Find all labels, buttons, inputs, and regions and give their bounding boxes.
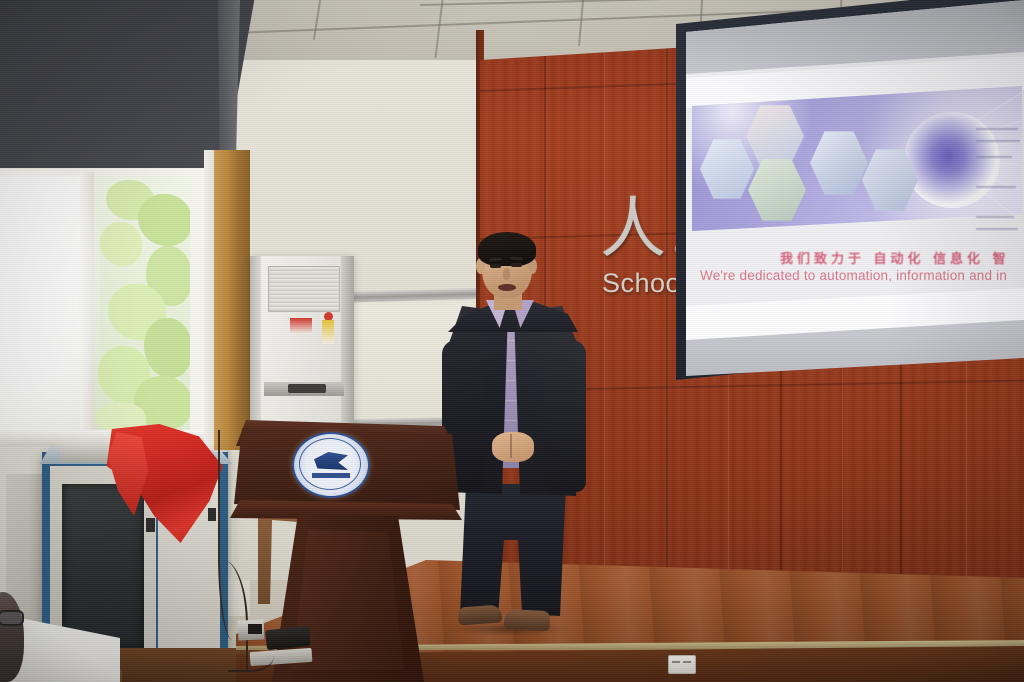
- rack-handle: [208, 508, 216, 521]
- wall-sign-english: Schoo: [602, 268, 681, 298]
- hex-cell-power-plant: [700, 138, 754, 200]
- slide-tagline-cjk: 我们致力于 自动化 信息化 智: [780, 248, 1024, 267]
- hex-cell-industrial-tanks: [810, 130, 868, 196]
- presenter-shoe-right: [504, 609, 551, 631]
- slide-side-text-line: [976, 128, 1018, 130]
- cable: [228, 640, 274, 672]
- slide-side-text-line: [976, 156, 1012, 158]
- window-pane-right: [94, 176, 190, 432]
- presenter-trousers: [460, 484, 572, 616]
- ceiling-grid-line: [578, 0, 584, 46]
- presenter-shoe-left: [457, 604, 502, 625]
- window-glare: [0, 170, 100, 436]
- presenter-nose: [503, 268, 510, 280]
- presenter: [440, 236, 590, 628]
- air-conditioner-side-strip: [341, 256, 354, 434]
- presenter-eye-left: [490, 264, 501, 268]
- foliage-leaf: [100, 222, 142, 266]
- foliage-leaf: [138, 194, 190, 246]
- seal-base-bar: [312, 473, 350, 478]
- presenter-eye-right: [511, 263, 522, 267]
- presenter-mouth: [498, 284, 516, 291]
- presenter-arm-right: [544, 340, 586, 492]
- outlet-slot-icon: [672, 661, 680, 663]
- slide-side-text-line: [976, 140, 1020, 142]
- eyeglasses-icon: [0, 610, 24, 626]
- air-conditioner-vent-louvre: [288, 384, 326, 393]
- hex-cell-landscape: [748, 158, 806, 222]
- stage-power-outlet[interactable]: [668, 655, 696, 674]
- hand-crease: [510, 434, 512, 458]
- yellow-energy-label: [322, 320, 334, 344]
- air-conditioner-side-strip: [250, 256, 261, 434]
- hex-cell-train: [746, 104, 804, 168]
- slide-tagline-english: We're dedicated to automation, informati…: [700, 268, 1024, 283]
- red-warning-label: [290, 318, 312, 334]
- ceiling-grid-line: [313, 0, 321, 40]
- wood-grain-line: [604, 26, 605, 600]
- eye-motif-icon: [904, 112, 1000, 208]
- university-seal-emblem: [292, 432, 370, 498]
- wooden-pillar: [214, 150, 250, 450]
- slide-side-text-line: [976, 228, 1018, 230]
- presenter-hair: [478, 232, 536, 266]
- presenter-clasped-hands: [492, 432, 534, 462]
- foliage-leaf: [144, 318, 190, 378]
- rack-handle: [146, 518, 155, 532]
- power-adapter-plug: [248, 624, 262, 634]
- slide-side-text-line: [976, 216, 1014, 218]
- ceiling-grid-line: [434, 0, 443, 58]
- wood-panel-seam: [666, 26, 668, 600]
- photo-scene: 人工 Schoo 我们致力于 自动化 信息化 智 We're dedicated…: [0, 0, 1024, 682]
- air-conditioner-intake-grille: [268, 266, 340, 312]
- outlet-slot-icon: [683, 661, 691, 663]
- slide-side-text-line: [976, 186, 1016, 188]
- slide-graphic-banner: [692, 86, 1022, 231]
